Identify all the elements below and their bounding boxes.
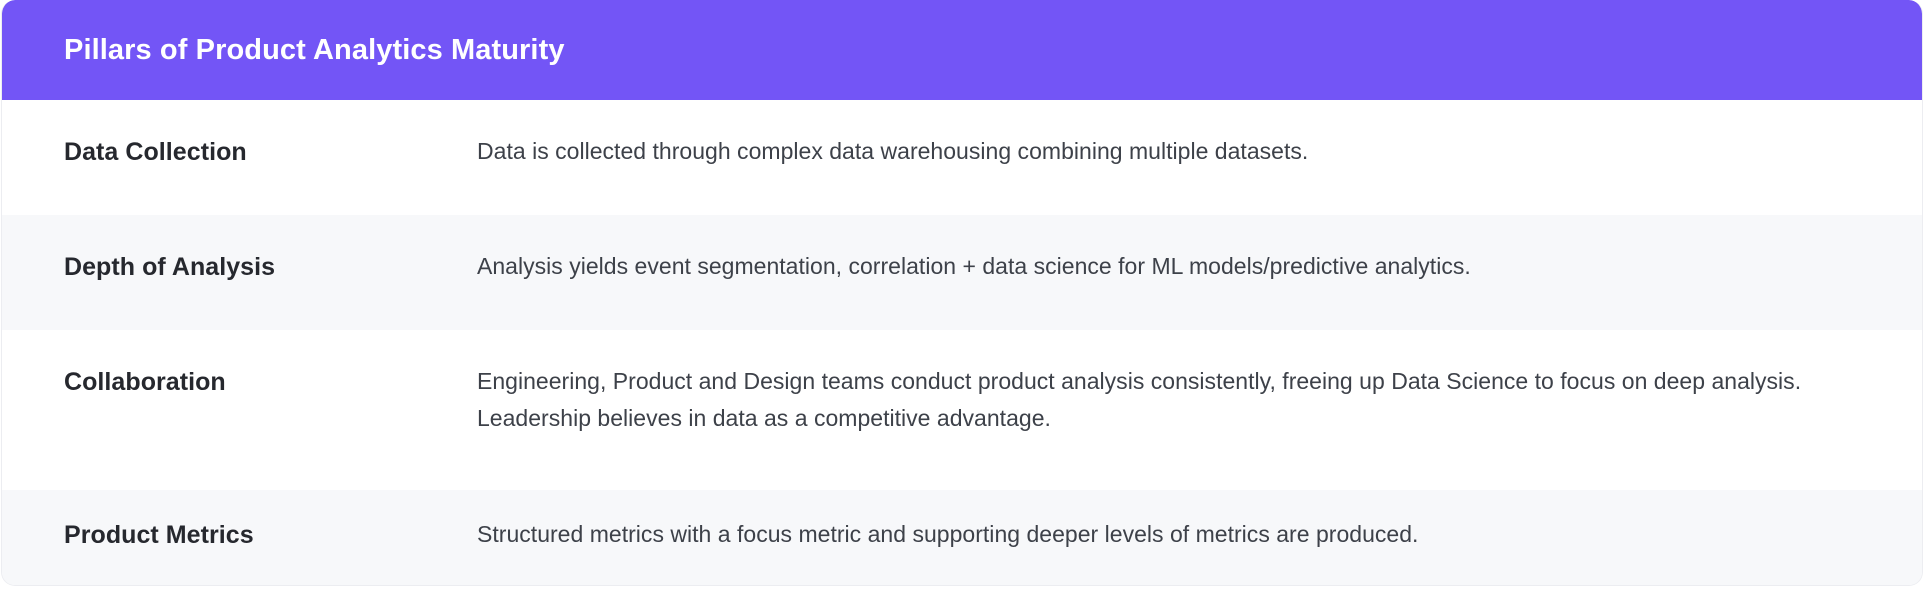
pillar-label-depth-of-analysis: Depth of Analysis (64, 215, 477, 283)
pillars-list: Data Collection Data is collected throug… (2, 100, 1922, 586)
pillar-label-collaboration: Collaboration (64, 330, 477, 398)
page-title: Pillars of Product Analytics Maturity (64, 33, 565, 68)
pillar-label-product-metrics: Product Metrics (64, 490, 477, 551)
pillar-description-data-collection: Data is collected through complex data w… (477, 100, 1837, 170)
pillar-description-depth-of-analysis: Analysis yields event segmentation, corr… (477, 215, 1837, 285)
page-root: Pillars of Product Analytics Maturity Da… (0, 0, 1932, 594)
pillars-card: Pillars of Product Analytics Maturity Da… (1, 0, 1923, 586)
pillar-description-collaboration: Engineering, Product and Design teams co… (477, 330, 1837, 438)
pillar-label-data-collection: Data Collection (64, 100, 477, 168)
table-row: Data Collection Data is collected throug… (2, 100, 1922, 215)
pillar-description-product-metrics: Structured metrics with a focus metric a… (477, 490, 1837, 553)
table-row: Product Metrics Structured metrics with … (2, 490, 1922, 586)
table-row: Depth of Analysis Analysis yields event … (2, 215, 1922, 330)
table-row: Collaboration Engineering, Product and D… (2, 330, 1922, 490)
card-header: Pillars of Product Analytics Maturity (2, 0, 1922, 100)
